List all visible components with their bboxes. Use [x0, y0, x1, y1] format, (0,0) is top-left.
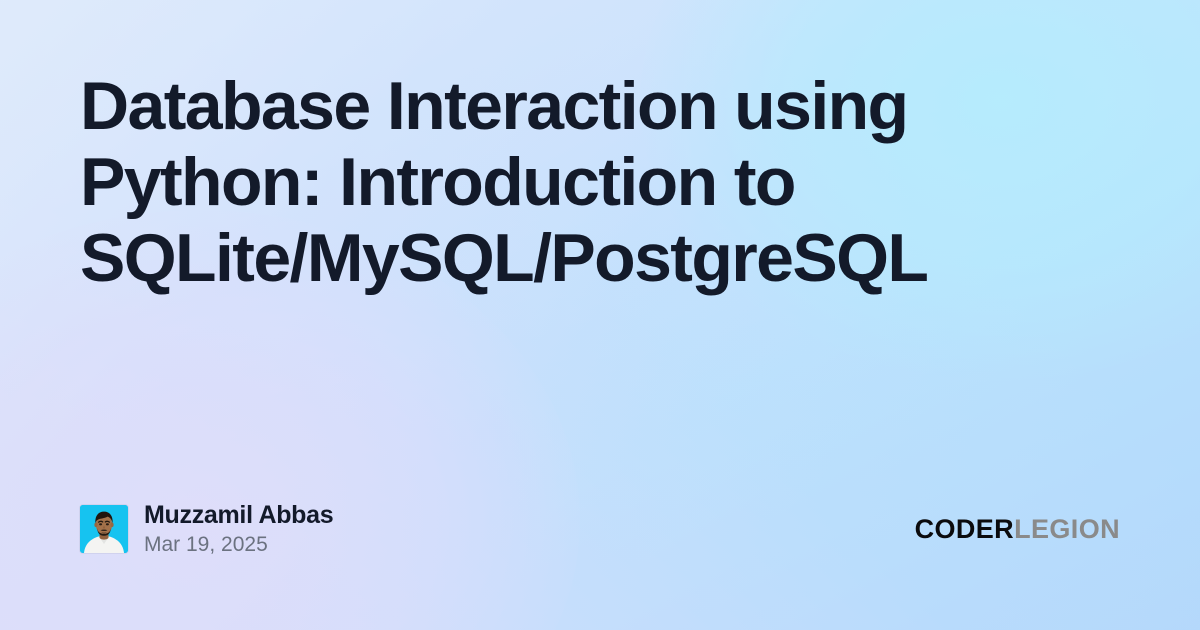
- brand-logo-primary: CODER: [915, 514, 1015, 545]
- author-name: Muzzamil Abbas: [144, 500, 333, 530]
- card-footer: Muzzamil Abbas Mar 19, 2025 CODERLEGION: [80, 500, 1120, 558]
- post-date: Mar 19, 2025: [144, 532, 333, 558]
- page-title: Database Interaction using Python: Intro…: [80, 68, 1090, 296]
- byline-text: Muzzamil Abbas Mar 19, 2025: [144, 500, 333, 558]
- byline: Muzzamil Abbas Mar 19, 2025: [80, 500, 333, 558]
- avatar: [80, 505, 128, 553]
- social-share-card: Database Interaction using Python: Intro…: [0, 0, 1200, 630]
- card-content: Database Interaction using Python: Intro…: [0, 0, 1200, 630]
- brand-logo: CODERLEGION: [915, 514, 1120, 545]
- brand-logo-secondary: LEGION: [1014, 514, 1120, 545]
